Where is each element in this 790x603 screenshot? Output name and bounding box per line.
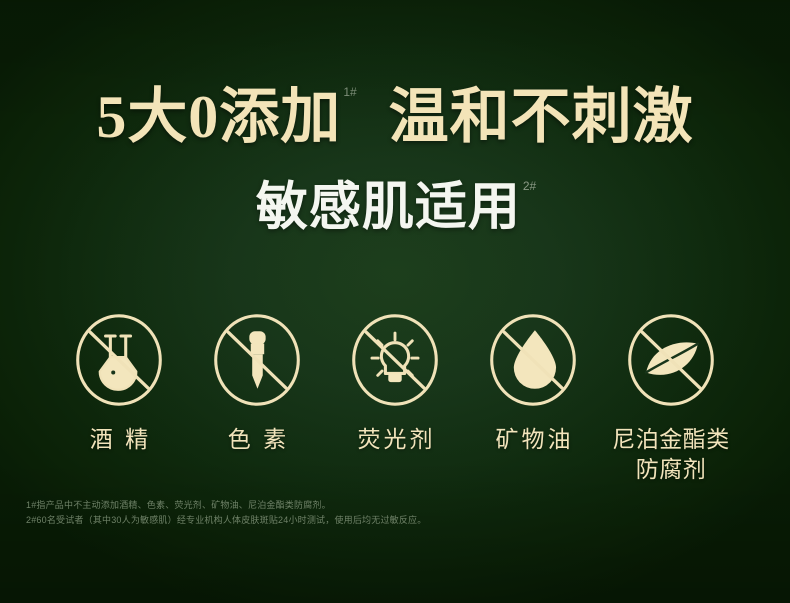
headline-part-one: 5大0添加	[96, 84, 341, 150]
droplet-icon	[485, 312, 581, 408]
subline: 敏感肌适用2#	[256, 172, 534, 238]
leaf-icon	[623, 312, 719, 408]
no-additives-icon-row: 酒 精 色 素	[0, 312, 790, 484]
subline-container: 敏感肌适用2#	[0, 172, 790, 238]
icon-label-alcohol: 酒 精	[87, 424, 151, 454]
icon-cell-paraben: 尼泊金酯类 防腐剂	[602, 312, 740, 484]
promo-poster: 5大0添加1#温和不刺激 敏感肌适用2# 酒 精	[0, 0, 790, 603]
icon-cell-alcohol: 酒 精	[50, 312, 188, 454]
headline-part-two: 温和不刺激	[389, 84, 694, 150]
headline-container: 5大0添加1#温和不刺激	[0, 78, 790, 151]
subline-superscript-2: 2#	[523, 179, 536, 193]
icon-label-paraben: 尼泊金酯类 防腐剂	[612, 424, 730, 484]
icon-cell-fluorescent: 荧光剂	[326, 312, 464, 454]
headline: 5大0添加1#温和不刺激	[96, 78, 693, 151]
icon-label-mineral-oil: 矿物油	[493, 424, 574, 454]
subline-text: 敏感肌适用	[256, 179, 521, 236]
bulb-icon	[347, 312, 443, 408]
icon-cell-mineral-oil: 矿物油	[464, 312, 602, 454]
footnote-2: 2#60名受试者（其中30人为敏感肌）经专业机构人体皮肤斑贴24小时测试，使用后…	[26, 513, 426, 528]
headline-superscript-1: 1#	[343, 85, 356, 99]
icon-label-fluorescent: 荧光剂	[355, 424, 436, 454]
footnotes: 1#指产品中不主动添加酒精、色素、荧光剂、矿物油、尼泊金酯类防腐剂。 2#60名…	[26, 498, 426, 528]
dropper-icon	[209, 312, 305, 408]
icon-cell-pigment: 色 素	[188, 312, 326, 454]
icon-label-pigment: 色 素	[225, 424, 289, 454]
flask-icon	[71, 312, 167, 408]
footnote-1: 1#指产品中不主动添加酒精、色素、荧光剂、矿物油、尼泊金酯类防腐剂。	[26, 498, 426, 513]
